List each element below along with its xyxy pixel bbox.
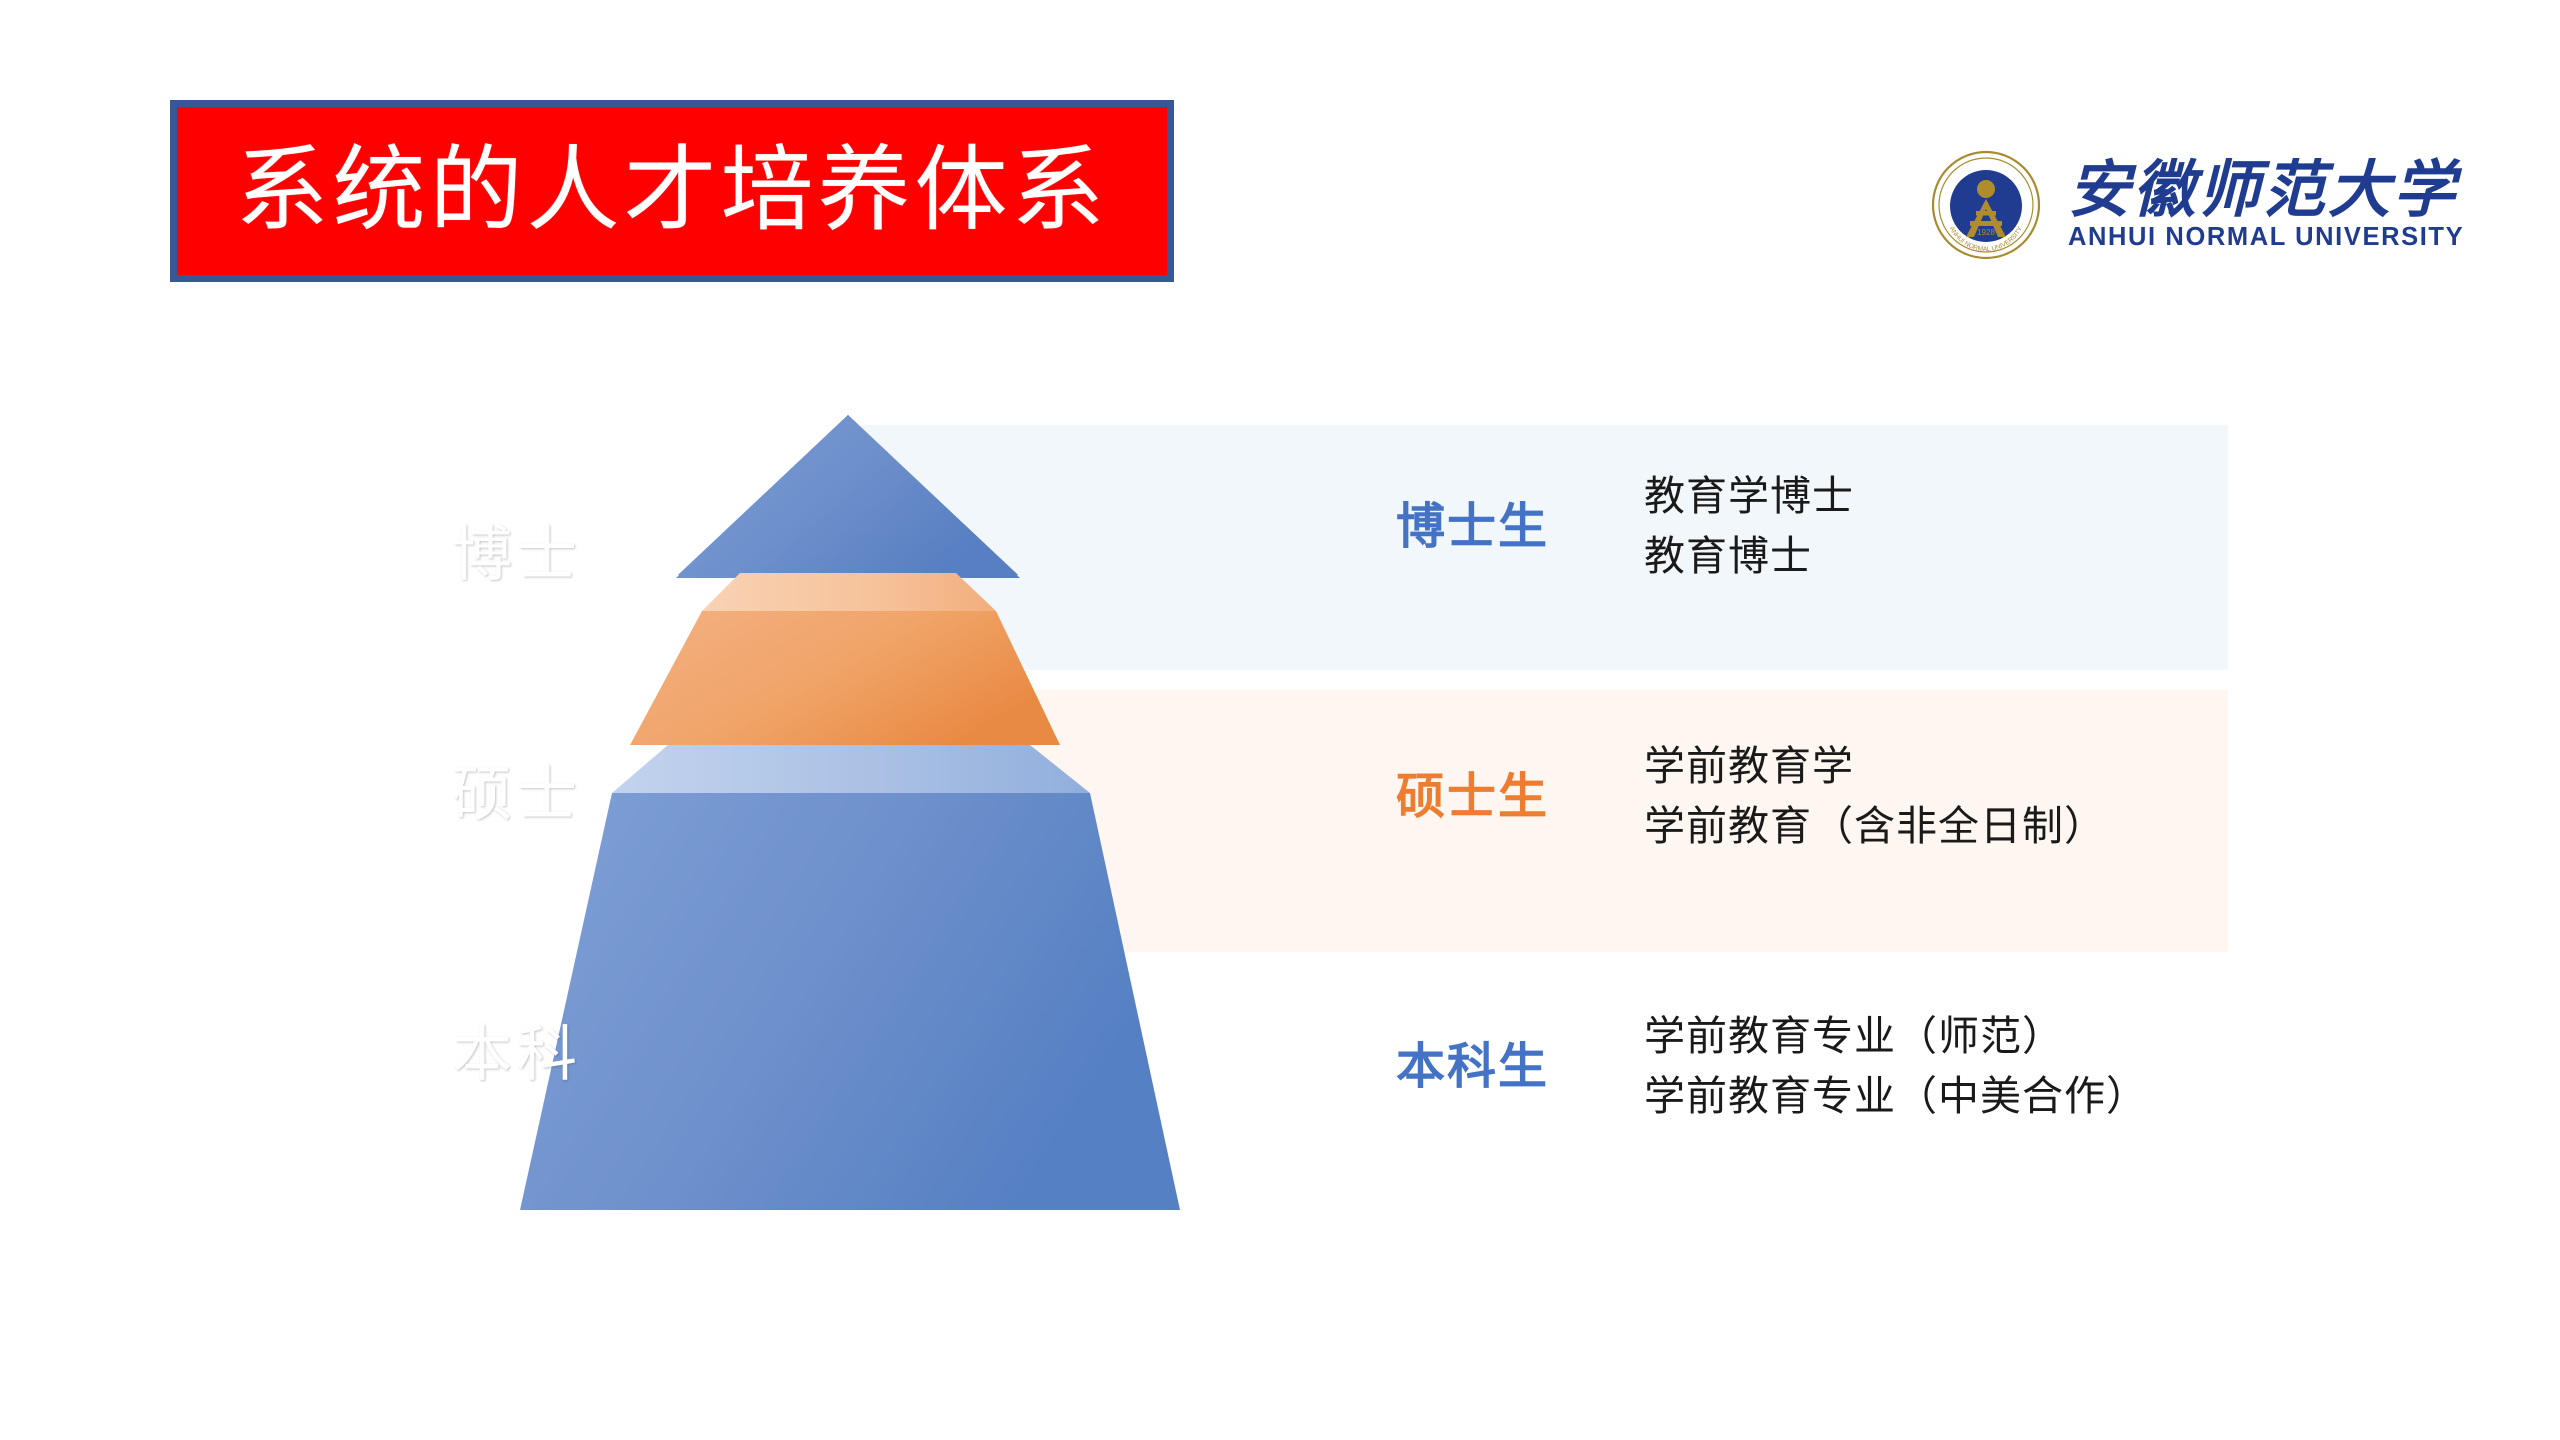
program-item: 学前教育专业（师范） (1644, 1014, 2148, 1060)
info-level-master: 硕士生 (1396, 772, 1644, 821)
pyramid-tier-bachelor (520, 745, 1180, 1210)
info-level-bachelor: 本科生 (1396, 1042, 1644, 1091)
slide-canvas: 系统的人才培养体系 1928 安徽师范大学 ANHUI NORMAL UNIVE… (0, 0, 2560, 1440)
info-programs-bachelor: 学前教育专业（师范） 学前教育专业（中美合作） (1644, 1014, 2148, 1120)
program-item: 学前教育专业（中美合作） (1644, 1074, 2148, 1120)
pyramid-label-master: 硕士 (452, 765, 582, 825)
pyramid-tier-master (630, 573, 1060, 745)
info-row-master: 硕士生 学前教育学 学前教育（含非全日制） (1396, 744, 2106, 850)
program-item: 学前教育（含非全日制） (1644, 804, 2106, 850)
university-emblem-icon: 1928 安徽师范大学 ANHUI NORMAL UNIVERSITY (1930, 149, 2042, 261)
slide-title-banner: 系统的人才培养体系 (170, 100, 1174, 282)
logo-chinese-name: 安徽师范大学 (2068, 160, 2464, 223)
program-item: 教育博士 (1644, 534, 1854, 580)
pyramid-tier-doctor (676, 415, 1020, 578)
info-programs-doctor: 教育学博士 教育博士 (1644, 474, 1854, 580)
page-title: 系统的人才培养体系 (236, 145, 1109, 238)
logo-wordmark: 安徽师范大学 ANHUI NORMAL UNIVERSITY (2068, 160, 2464, 251)
info-row-bachelor: 本科生 学前教育专业（师范） 学前教育专业（中美合作） (1396, 1014, 2148, 1120)
pyramid-label-doctor: 博士 (452, 525, 582, 585)
program-item: 学前教育学 (1644, 744, 2106, 790)
info-row-doctor: 博士生 教育学博士 教育博士 (1396, 474, 1854, 580)
program-item: 教育学博士 (1644, 474, 1854, 520)
svg-text:1928: 1928 (1977, 228, 1995, 237)
logo-english-name: ANHUI NORMAL UNIVERSITY (2068, 225, 2464, 251)
pyramid-label-bachelor: 本科 (452, 1025, 582, 1085)
university-logo: 1928 安徽师范大学 ANHUI NORMAL UNIVERSITY 安徽师范… (1930, 140, 2450, 270)
info-programs-master: 学前教育学 学前教育（含非全日制） (1644, 744, 2106, 850)
info-level-doctor: 博士生 (1396, 502, 1644, 551)
